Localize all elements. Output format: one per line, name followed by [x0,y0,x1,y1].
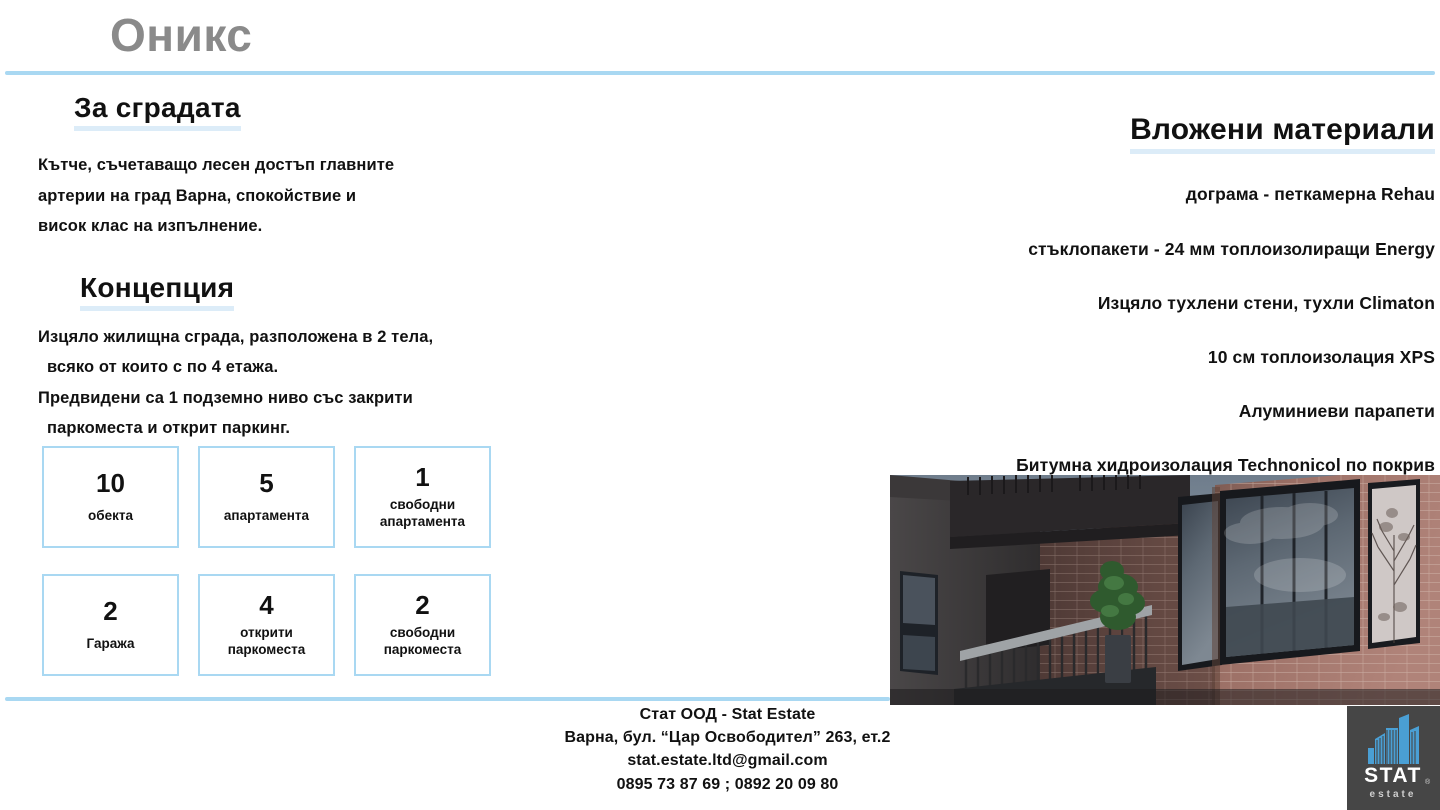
stat-label: свободни паркоместа [384,625,462,659]
stat-label: свободни апартамента [380,497,465,531]
stat-box[interactable]: 2 свободни паркоместа [354,574,491,676]
stat-box[interactable]: 10 обекта [42,446,179,548]
footer-company: Стат ООД - Stat Estate [360,703,1095,726]
about-heading-text: За сградата [74,92,241,123]
material-item: 10 см топлоизолация XPS [875,347,1435,368]
stat-value: 2 [103,597,117,626]
stat-value: 2 [415,591,429,620]
logo-wordmark: STAT [1364,764,1422,787]
stat-box[interactable]: 1 свободни апартамента [354,446,491,548]
materials-heading-text: Вложени материали [1130,113,1435,146]
material-item: Алуминиеви парапети [875,401,1435,422]
stat-box[interactable]: 2 Гаража [42,574,179,676]
stats-grid: 10 обекта 5 апартаментa 1 свободни апарт… [42,446,502,676]
concept-paragraph: Изцяло жилищна сграда, разположена в 2 т… [38,322,598,444]
header-divider [5,71,1435,75]
stat-box[interactable]: 5 апартаментa [198,446,335,548]
concept-heading-wrap: Концепция [80,272,598,308]
building-photo [890,475,1440,705]
concept-line-1: Изцяло жилищна сграда, разположена в 2 т… [38,328,433,346]
stat-label: открити паркоместа [228,625,306,659]
materials-column: Вложени материали дограма - петкамерна R… [875,88,1435,530]
concept-line-3: Предвидени са 1 подземно ниво със закрит… [38,389,413,407]
logo-registered-mark: ® [1425,778,1431,786]
stat-value: 10 [96,469,125,498]
stat-label: обекта [88,508,133,525]
footer-divider [5,697,890,701]
footer-contact: Стат ООД - Stat Estate Варна, бул. “Цар … [360,703,1095,796]
footer-email[interactable]: stat.estate.ltd@gmail.com [360,749,1095,772]
left-content-column: За сградата Кътче, съчетаващо лесен дост… [38,92,598,444]
footer-phones[interactable]: 0895 73 87 69 ; 0892 20 09 80 [360,773,1095,796]
materials-heading-underline [1130,149,1435,154]
stat-estate-logo: STAT ® estate [1347,706,1440,810]
about-heading-wrap: За сградата [74,92,598,128]
materials-heading: Вложени материали [1130,113,1435,151]
footer-address: Варна, бул. “Цар Освободител” 263, ет.2 [360,726,1095,749]
concept-heading-underline [80,306,234,311]
logo-tagline: estate [1370,789,1417,800]
about-heading-underline [74,126,241,131]
stat-label: Гаража [87,636,135,653]
concept-line-4: паркоместа и открит паркинг. [38,413,598,444]
about-paragraph: Кътче, съчетаващо лесен достъп главните … [38,150,598,242]
about-heading: За сградата [74,92,241,128]
stat-box[interactable]: 4 открити паркоместа [198,574,335,676]
material-item: Изцяло тухлени стени, тухли Climaton [875,293,1435,314]
presentation-slide: Оникс За сградата Кътче, съчетаващо лесе… [0,0,1440,810]
concept-heading: Концепция [80,272,234,308]
stat-value: 4 [259,591,273,620]
stat-label: апартаментa [224,508,309,525]
concept-line-2: всяко от които с по 4 етажа. [38,352,598,383]
material-item: стъклопакети - 24 мм топлоизолиращи Ener… [875,239,1435,260]
material-item: Битумна хидроизолация Technonicol по пок… [875,455,1435,476]
material-item: дограма - петкамерна Rehau [875,184,1435,205]
concept-heading-text: Концепция [80,272,234,303]
stat-value: 1 [415,463,429,492]
stat-value: 5 [259,469,273,498]
page-title: Оникс [110,8,252,63]
